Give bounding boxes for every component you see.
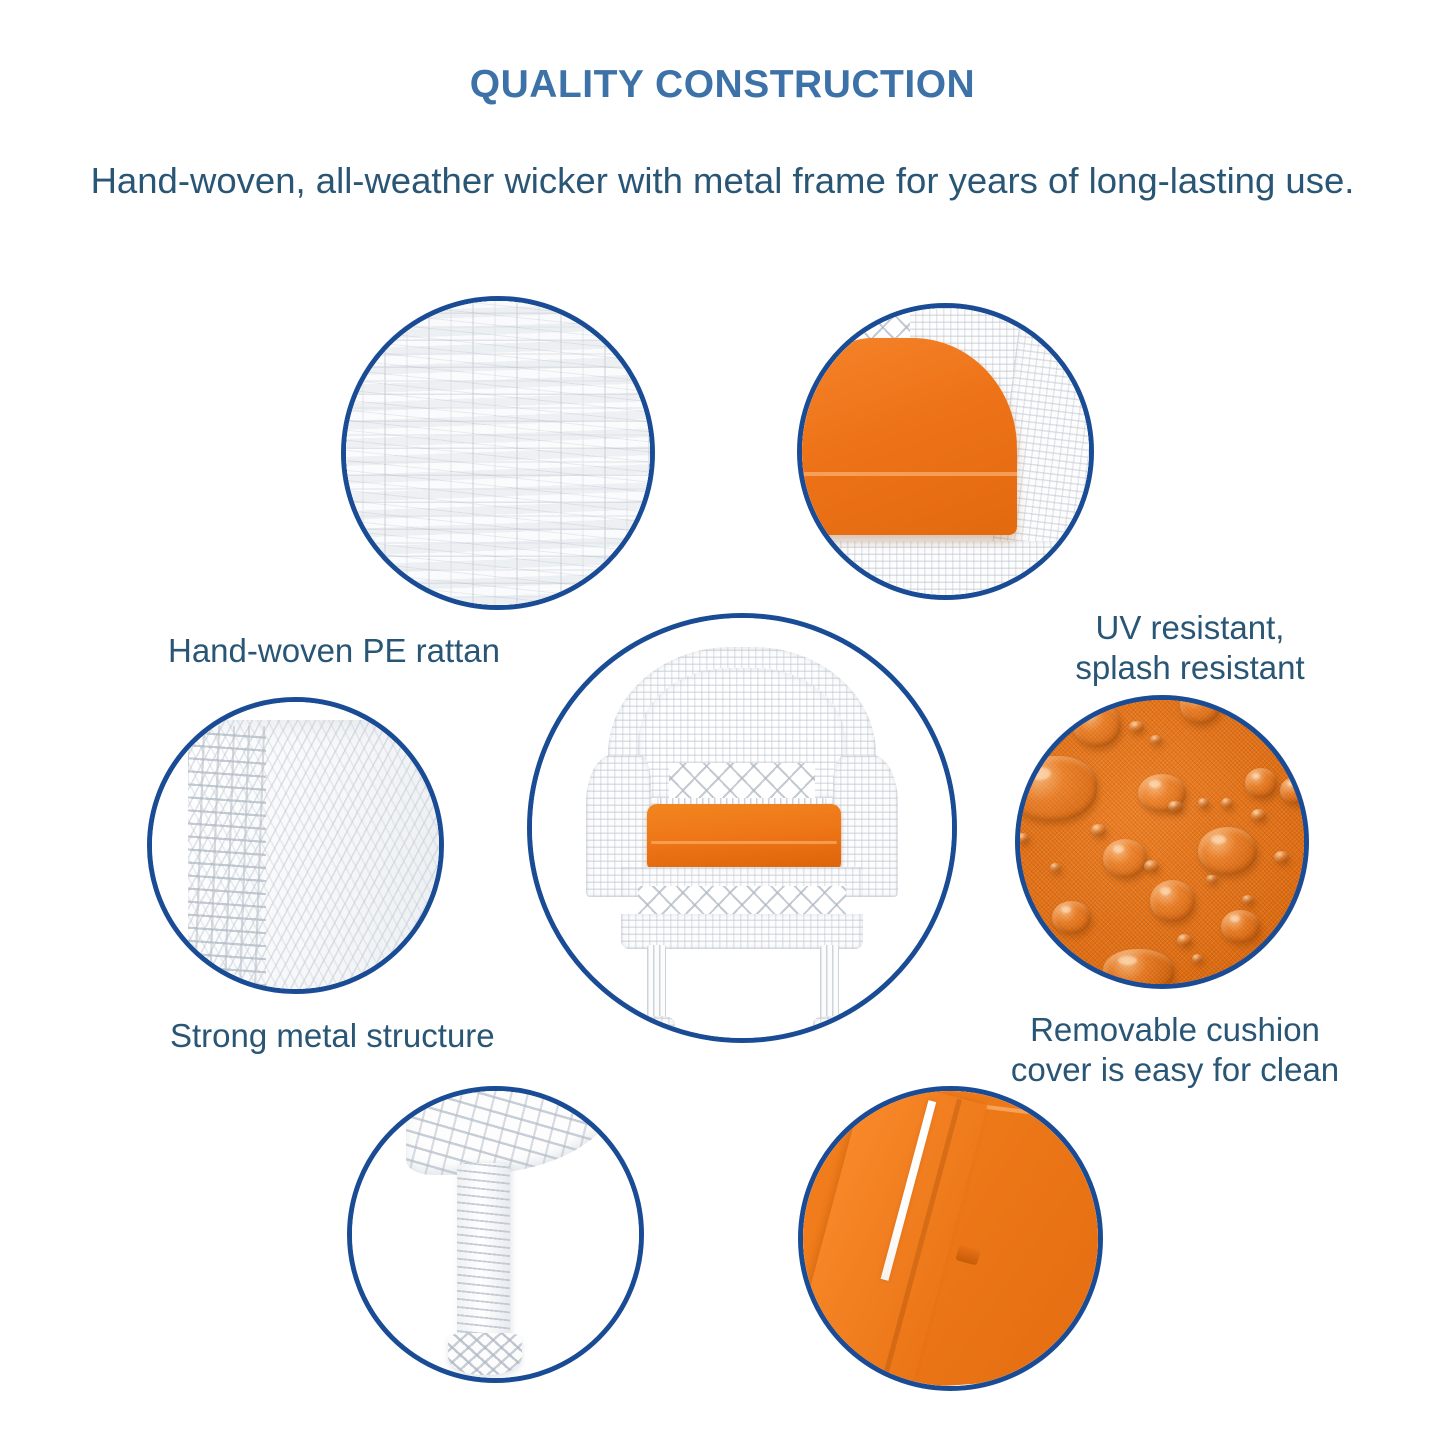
water-droplet [1221, 910, 1259, 943]
water-droplet-small [1274, 851, 1289, 863]
chair-leg-photo [347, 1086, 644, 1383]
chair-foot-left [640, 1016, 675, 1033]
feature-image-cushion-zipper-detail [798, 1086, 1103, 1391]
chair-foot-right [813, 1016, 848, 1033]
orange-fabric-texture [1015, 695, 1309, 989]
page-title: QUALITY CONSTRUCTION [0, 63, 1445, 107]
chair-bottom-rail [621, 914, 863, 949]
cushion-on-chair-photo [797, 303, 1094, 600]
chair-seat-cushion [647, 804, 841, 869]
feature-image-removable-cushion-cover [1015, 695, 1309, 989]
basket-weave-texture [341, 296, 655, 610]
infographic-page: QUALITY CONSTRUCTION Hand-woven, all-wea… [0, 0, 1445, 1445]
page-subtitle: Hand-woven, all-weather wicker with meta… [0, 160, 1445, 202]
white-wicker-armchair [527, 613, 957, 1043]
chair-seat-base-wicker [797, 541, 1094, 600]
water-droplet-small [1017, 833, 1029, 843]
water-droplet-small [1251, 809, 1266, 821]
water-droplet-small [1050, 863, 1062, 872]
water-droplet [1052, 901, 1090, 934]
feature-label-hand-woven-pe-rattan: Hand-woven PE rattan [168, 631, 588, 671]
chair-leg-front-left [647, 945, 666, 1023]
feature-image-full-chair [527, 613, 957, 1043]
feature-label-removable-cushion-cover: Removable cushion cover is easy for clea… [1000, 1010, 1350, 1090]
feature-image-hand-woven-pe-rattan [341, 296, 655, 610]
cushion-body [798, 1086, 1103, 1391]
zipper-pull [956, 1244, 981, 1265]
leg-shaft-ribbed [457, 1163, 511, 1348]
cushion-zipper-photo [798, 1086, 1103, 1391]
feature-label-uv-splash-resistant: UV resistant, splash resistant [1040, 608, 1340, 688]
chair-arm-corner-photo [147, 697, 444, 994]
water-droplet-small [1192, 954, 1204, 963]
orange-cushion [797, 338, 1017, 535]
water-droplet-small [1091, 824, 1106, 836]
feature-image-strong-metal-structure [147, 697, 444, 994]
water-droplet [1015, 756, 1097, 821]
feature-image-uv-splash-resistant [797, 303, 1094, 600]
water-droplet-small [1168, 801, 1183, 813]
water-droplet-small [1177, 934, 1192, 946]
water-droplet [1198, 827, 1257, 874]
water-droplet-small [1242, 895, 1254, 904]
water-droplet-small [1221, 798, 1233, 808]
water-droplet [1103, 839, 1147, 877]
cushion-piping-seam [797, 472, 1017, 476]
water-droplet-small [1144, 860, 1159, 872]
leg-foot-wicker [448, 1333, 523, 1375]
chair-leg-front-right [820, 945, 839, 1023]
chair-back-lattice-panel [669, 763, 816, 802]
water-droplet-small [1206, 875, 1218, 884]
water-droplet [1245, 768, 1278, 798]
water-droplet [1103, 949, 1174, 989]
water-droplet-small [1129, 721, 1144, 733]
arm-open-weave-face [188, 726, 266, 994]
water-droplet-small [1150, 735, 1162, 744]
water-droplet [1280, 777, 1309, 804]
water-droplet [1150, 880, 1194, 921]
water-droplet-small [1198, 798, 1210, 808]
water-droplet [1180, 695, 1221, 724]
leg-top-flare-wicker [406, 1086, 621, 1175]
water-droplet [1073, 703, 1120, 747]
feature-image-chair-leg-detail [347, 1086, 644, 1383]
